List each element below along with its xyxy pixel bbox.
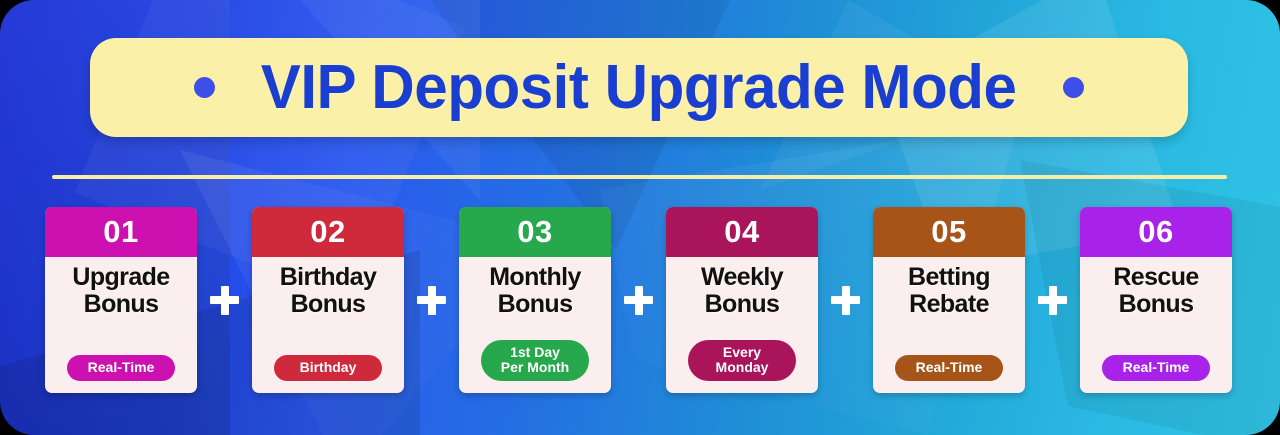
card-title-line2: Bonus — [280, 291, 377, 318]
card-badge-line1: Real-Time — [909, 360, 989, 376]
card-number: 05 — [873, 207, 1025, 257]
card-title-line2: Rebate — [908, 291, 990, 318]
plus-separator — [1025, 207, 1080, 393]
page-title: VIP Deposit Upgrade Mode — [261, 52, 1017, 123]
card-title-line1: Weekly — [701, 264, 783, 291]
card-title: Monthly Bonus — [489, 264, 581, 317]
card-badge: Birthday — [274, 355, 382, 381]
bonus-card[interactable]: 03 Monthly Bonus 1st Day Per Month — [459, 207, 611, 393]
card-title-line1: Birthday — [280, 264, 377, 291]
card-title-line1: Monthly — [489, 264, 581, 291]
bonus-card[interactable]: 04 Weekly Bonus Every Monday — [666, 207, 818, 393]
divider — [52, 175, 1227, 179]
card-badge: 1st Day Per Month — [481, 340, 589, 381]
card-title-line1: Betting — [908, 264, 990, 291]
bullet-dot-left-icon — [194, 77, 215, 98]
card-title-line1: Rescue — [1113, 264, 1198, 291]
card-number: 04 — [666, 207, 818, 257]
bullet-dot-right-icon — [1063, 77, 1084, 98]
plus-icon — [210, 286, 239, 315]
bonus-card[interactable]: 06 Rescue Bonus Real-Time — [1080, 207, 1232, 393]
title-banner: VIP Deposit Upgrade Mode — [90, 38, 1188, 137]
card-badge: Real-Time — [1102, 355, 1210, 381]
card-badge-line1: Real-Time — [81, 360, 161, 376]
card-title: Weekly Bonus — [701, 264, 783, 317]
card-number: 01 — [45, 207, 197, 257]
bonus-card-row: 01 Upgrade Bonus Real-Time 02 Birthday — [45, 207, 1235, 393]
card-title: Birthday Bonus — [280, 264, 377, 317]
card-badge-line1: 1st Day — [495, 345, 575, 361]
card-number: 06 — [1080, 207, 1232, 257]
card-title-line1: Upgrade — [72, 264, 169, 291]
card-number: 02 — [252, 207, 404, 257]
plus-separator — [197, 207, 252, 393]
card-number: 03 — [459, 207, 611, 257]
card-title-line2: Bonus — [701, 291, 783, 318]
plus-icon — [831, 286, 860, 315]
bonus-card[interactable]: 05 Betting Rebate Real-Time — [873, 207, 1025, 393]
bonus-card[interactable]: 02 Birthday Bonus Birthday — [252, 207, 404, 393]
card-title: Betting Rebate — [908, 264, 990, 317]
card-title-line2: Bonus — [72, 291, 169, 318]
card-title-line2: Bonus — [1113, 291, 1198, 318]
card-badge-line1: Birthday — [288, 360, 368, 376]
card-title-line2: Bonus — [489, 291, 581, 318]
card-badge: Real-Time — [895, 355, 1003, 381]
plus-icon — [624, 286, 653, 315]
promo-banner: VIP Deposit Upgrade Mode 01 Upgrade Bonu… — [0, 0, 1280, 435]
card-title: Upgrade Bonus — [72, 264, 169, 317]
bonus-card[interactable]: 01 Upgrade Bonus Real-Time — [45, 207, 197, 393]
card-badge-line2: Monday — [702, 360, 782, 376]
card-badge: Every Monday — [688, 340, 796, 381]
card-badge-line2: Per Month — [495, 360, 575, 376]
plus-icon — [417, 286, 446, 315]
card-badge-line1: Every — [702, 345, 782, 361]
card-badge: Real-Time — [67, 355, 175, 381]
plus-separator — [818, 207, 873, 393]
plus-separator — [404, 207, 459, 393]
plus-separator — [611, 207, 666, 393]
card-title: Rescue Bonus — [1113, 264, 1198, 317]
plus-icon — [1038, 286, 1067, 315]
card-badge-line1: Real-Time — [1116, 360, 1196, 376]
